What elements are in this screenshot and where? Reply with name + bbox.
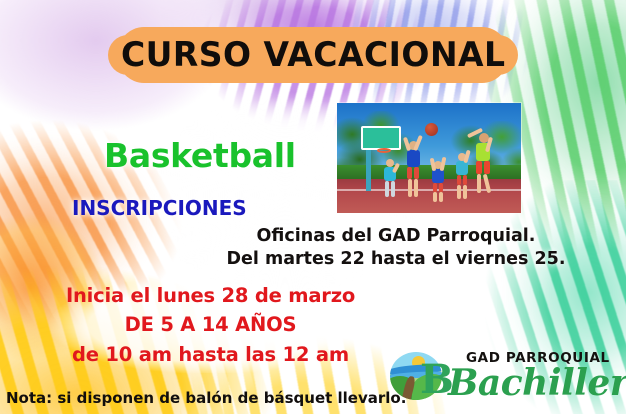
gad-logo: B GAD PARROQUIAL Bachillero (384, 346, 620, 408)
logo-emblem-icon: B (390, 350, 444, 402)
schedule-block: Inicia el lunes 28 de marzo DE 5 A 14 AÑ… (38, 281, 383, 369)
photo-backboard (361, 126, 401, 150)
schedule-line-2: DE 5 A 14 AÑOS (38, 310, 383, 339)
photo-child-2 (403, 141, 423, 199)
photo-basketball (425, 123, 438, 136)
photo-child-1 (381, 159, 399, 199)
office-line-1: Oficinas del GAD Parroquial. (196, 225, 596, 248)
logo-parish-name: Bachillero (448, 362, 626, 404)
schedule-line-1: Inicia el lunes 28 de marzo (38, 281, 383, 310)
photo-child-3 (429, 161, 447, 203)
poster-canvas: CURSO VACACIONAL Basketball INSCRIPCIONE… (0, 0, 626, 414)
note-text: Nota: si disponen de balón de básquet ll… (6, 389, 406, 407)
office-info-block: Oficinas del GAD Parroquial. Del martes … (196, 225, 596, 271)
office-line-2: Del martes 22 hasta el viernes 25. (196, 248, 596, 271)
photo-child-5 (471, 133, 495, 195)
schedule-line-3: de 10 am hasta las 12 am (38, 340, 383, 369)
sport-heading: Basketball (104, 136, 296, 175)
page-title: CURSO VACACIONAL (121, 35, 506, 75)
title-banner: CURSO VACACIONAL (118, 27, 508, 83)
photo-hoop-rim (377, 148, 391, 153)
inscriptions-label: INSCRIPCIONES (72, 196, 247, 220)
basketball-photo (337, 103, 521, 213)
photo-child-4 (453, 153, 471, 201)
